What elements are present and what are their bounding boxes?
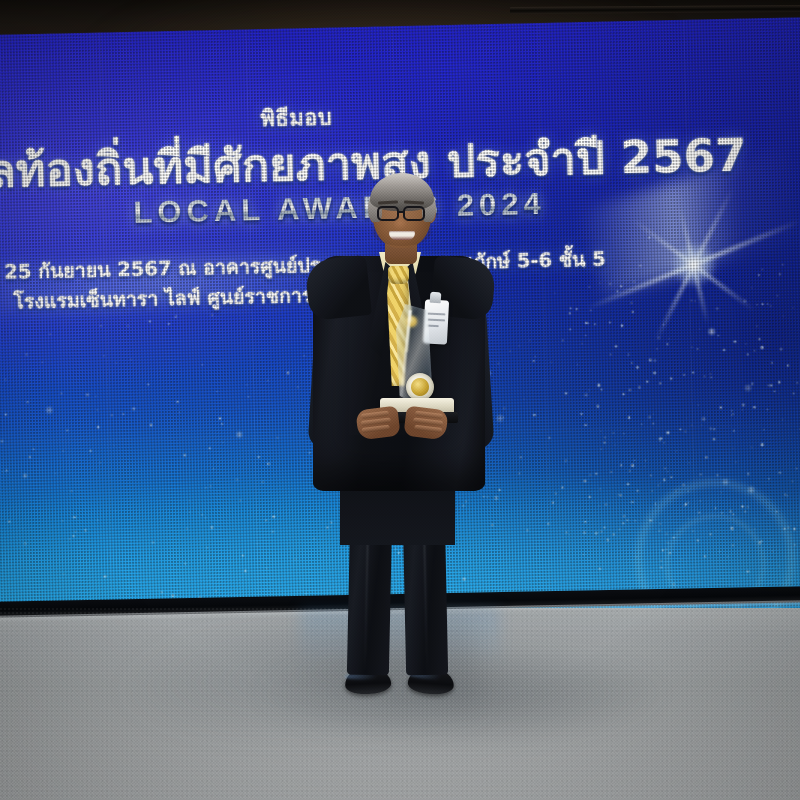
led-pixel-highlight <box>0 16 800 635</box>
carpet-texture <box>0 608 800 800</box>
event-photo-scene: พิธีมอบ วัลท้องถิ่นที่มีศักยภาพสูง ประจำ… <box>0 0 800 800</box>
stage-floor <box>0 608 800 800</box>
ceiling-light-track <box>510 5 800 14</box>
led-video-wall: พิธีมอบ วัลท้องถิ่นที่มีศักยภาพสูง ประจำ… <box>0 16 800 635</box>
